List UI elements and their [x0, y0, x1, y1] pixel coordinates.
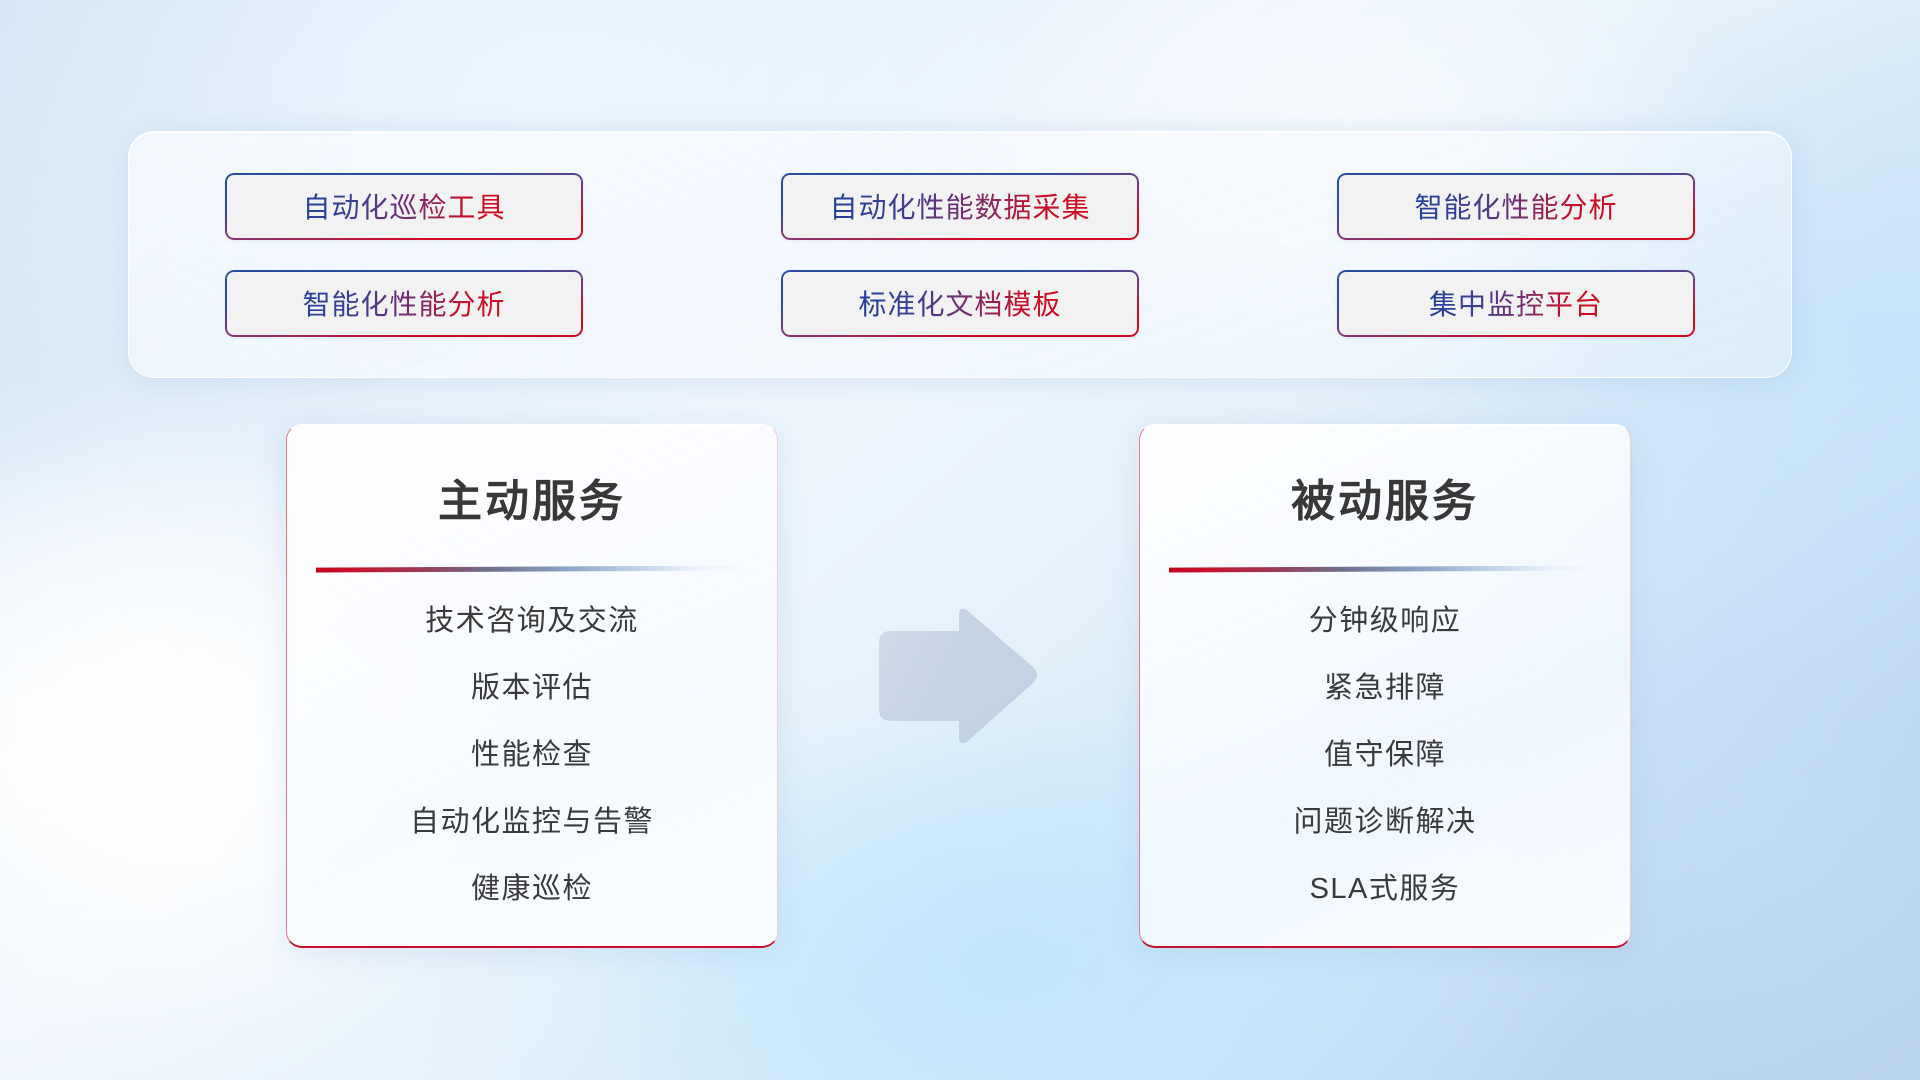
service-card-proactive: 主动服务 技术咨询及交流 版本评估 性能检查 自动化监控与告警 健康巡检 [286, 424, 778, 948]
list-item: 技术咨询及交流 [287, 607, 777, 636]
capability-pill-label: 自动化巡检工具 [302, 186, 505, 226]
capability-pill-label: 集中监控平台 [1429, 283, 1603, 323]
card-divider [316, 566, 748, 573]
list-item: 分钟级响应 [1140, 607, 1630, 636]
list-item: 问题诊断解决 [1140, 808, 1630, 837]
list-item: 紧急排障 [1140, 674, 1630, 703]
capability-pill-automated-performance-data-collection[interactable]: 自动化性能数据采集 [781, 173, 1139, 240]
capability-pill-intelligent-performance-analysis[interactable]: 智能化性能分析 [1337, 173, 1695, 240]
list-item: 性能检查 [287, 741, 777, 770]
capability-pill-label: 智能化性能分析 [302, 283, 505, 323]
capability-pill-intelligent-performance-analysis-2[interactable]: 智能化性能分析 [225, 270, 583, 337]
service-list-proactive: 技术咨询及交流 版本评估 性能检查 自动化监控与告警 健康巡检 [287, 573, 777, 904]
list-item: 自动化监控与告警 [287, 808, 777, 837]
capability-pill-label: 智能化性能分析 [1414, 186, 1617, 226]
list-item: SLA式服务 [1140, 875, 1630, 904]
card-title-reactive: 被动服务 [1140, 465, 1630, 529]
capability-row-2: 智能化性能分析 标准化文档模板 集中监控平台 [225, 270, 1695, 337]
list-item: 健康巡检 [287, 875, 777, 904]
capability-pill-standardized-document-template[interactable]: 标准化文档模板 [781, 270, 1139, 337]
capability-row-1: 自动化巡检工具 自动化性能数据采集 智能化性能分析 [225, 173, 1695, 240]
capability-panel: 自动化巡检工具 自动化性能数据采集 智能化性能分析 智能化性能分析 标准化文档模… [128, 131, 1792, 378]
list-item: 版本评估 [287, 674, 777, 703]
card-divider [1169, 566, 1601, 573]
service-list-reactive: 分钟级响应 紧急排障 值守保障 问题诊断解决 SLA式服务 [1140, 573, 1630, 904]
list-item: 值守保障 [1140, 741, 1630, 770]
arrow-right-icon [873, 605, 1041, 747]
capability-pill-label: 自动化性能数据采集 [829, 186, 1090, 226]
capability-pill-automated-inspection-tool[interactable]: 自动化巡检工具 [225, 173, 583, 240]
diagram-canvas: 自动化巡检工具 自动化性能数据采集 智能化性能分析 智能化性能分析 标准化文档模… [0, 0, 1920, 1080]
service-card-reactive: 被动服务 分钟级响应 紧急排障 值守保障 问题诊断解决 SLA式服务 [1139, 424, 1631, 948]
capability-pill-label: 标准化文档模板 [858, 283, 1061, 323]
capability-pill-centralized-monitoring-platform[interactable]: 集中监控平台 [1337, 270, 1695, 337]
card-title-proactive: 主动服务 [287, 465, 777, 529]
